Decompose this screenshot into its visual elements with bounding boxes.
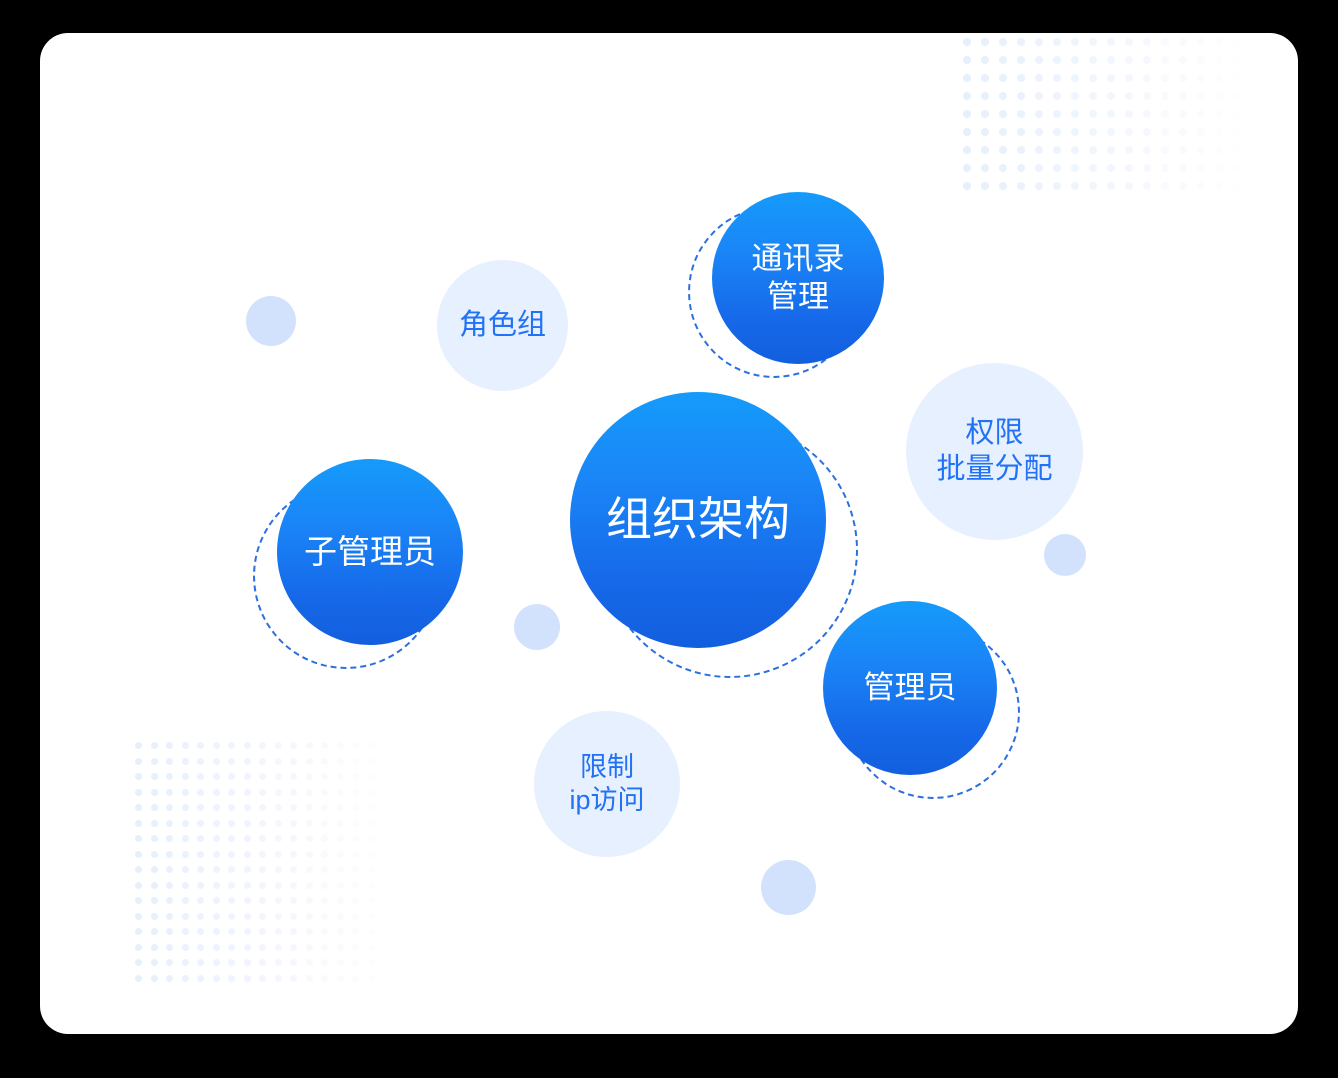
grid-dot bbox=[213, 804, 220, 811]
grid-dot bbox=[1071, 56, 1079, 64]
grid-dot bbox=[383, 835, 390, 842]
grid-dot bbox=[1179, 164, 1187, 172]
grid-dot bbox=[182, 742, 189, 749]
grid-dot bbox=[352, 804, 359, 811]
grid-dot bbox=[213, 882, 220, 889]
grid-dot bbox=[259, 897, 266, 904]
grid-dot bbox=[135, 913, 142, 920]
grid-dot bbox=[1161, 128, 1169, 136]
diagram-card: 组织架构通讯录 管理子管理员管理员角色组权限 批量分配限制 ip访问 bbox=[40, 33, 1298, 1034]
grid-dot bbox=[182, 913, 189, 920]
grid-dot bbox=[1053, 38, 1061, 46]
grid-dot bbox=[1089, 74, 1097, 82]
grid-dot bbox=[182, 851, 189, 858]
grid-dot bbox=[321, 975, 328, 982]
grid-dot bbox=[337, 928, 344, 935]
grid-dot bbox=[213, 835, 220, 842]
grid-dot bbox=[321, 882, 328, 889]
grid-dot bbox=[151, 897, 158, 904]
grid-dot bbox=[1143, 56, 1151, 64]
grid-dot bbox=[259, 928, 266, 935]
grid-dot bbox=[228, 758, 235, 765]
grid-dot bbox=[135, 975, 142, 982]
grid-dot bbox=[352, 773, 359, 780]
grid-dot bbox=[135, 820, 142, 827]
grid-dot bbox=[321, 913, 328, 920]
grid-dot bbox=[1179, 146, 1187, 154]
grid-dot bbox=[166, 913, 173, 920]
grid-dot bbox=[1053, 146, 1061, 154]
grid-dot bbox=[306, 913, 313, 920]
grid-dot bbox=[1161, 110, 1169, 118]
grid-dot bbox=[259, 742, 266, 749]
grid-dot bbox=[352, 866, 359, 873]
grid-dot bbox=[1197, 182, 1205, 190]
grid-dot bbox=[337, 959, 344, 966]
grid-dot bbox=[275, 866, 282, 873]
grid-dot bbox=[244, 773, 251, 780]
grid-dot bbox=[135, 851, 142, 858]
grid-dot bbox=[1071, 74, 1079, 82]
grid-dot bbox=[290, 913, 297, 920]
grid-dot bbox=[1107, 164, 1115, 172]
bubble-restrict-ip-access[interactable]: 限制 ip访问 bbox=[534, 711, 680, 857]
bubble-sub-administrator[interactable]: 子管理员 bbox=[277, 459, 463, 645]
grid-dot bbox=[213, 851, 220, 858]
grid-dot bbox=[352, 897, 359, 904]
grid-dot bbox=[1197, 56, 1205, 64]
grid-dot bbox=[963, 164, 971, 172]
grid-dot bbox=[244, 835, 251, 842]
grid-dot bbox=[259, 758, 266, 765]
grid-dot bbox=[337, 804, 344, 811]
grid-dot bbox=[1179, 92, 1187, 100]
grid-dot bbox=[352, 820, 359, 827]
grid-dot bbox=[213, 944, 220, 951]
grid-dot bbox=[290, 851, 297, 858]
grid-dot bbox=[321, 742, 328, 749]
grid-dot bbox=[1215, 182, 1223, 190]
grid-dot bbox=[1143, 128, 1151, 136]
grid-dot bbox=[135, 928, 142, 935]
grid-dot bbox=[151, 975, 158, 982]
grid-dot bbox=[213, 975, 220, 982]
grid-dot bbox=[1107, 74, 1115, 82]
grid-dot bbox=[1125, 38, 1133, 46]
grid-dot bbox=[290, 804, 297, 811]
grid-dot bbox=[166, 882, 173, 889]
grid-dot bbox=[1125, 74, 1133, 82]
grid-dot bbox=[1143, 74, 1151, 82]
grid-dot bbox=[1179, 110, 1187, 118]
grid-dot bbox=[352, 913, 359, 920]
grid-dot bbox=[981, 74, 989, 82]
grid-dot bbox=[244, 882, 251, 889]
grid-dot bbox=[228, 789, 235, 796]
grid-dot bbox=[1161, 38, 1169, 46]
grid-dot bbox=[1089, 164, 1097, 172]
grid-dot bbox=[151, 773, 158, 780]
grid-dot bbox=[151, 959, 158, 966]
bubble-label-restrict-ip-access: 限制 ip访问 bbox=[569, 751, 644, 818]
grid-dot bbox=[963, 182, 971, 190]
grid-dot bbox=[368, 928, 375, 935]
grid-dot bbox=[275, 913, 282, 920]
grid-dot bbox=[1035, 56, 1043, 64]
grid-dot bbox=[368, 913, 375, 920]
grid-dot bbox=[1143, 146, 1151, 154]
grid-dot bbox=[290, 866, 297, 873]
grid-dot bbox=[244, 959, 251, 966]
grid-dot bbox=[182, 804, 189, 811]
grid-dot bbox=[352, 742, 359, 749]
bubble-batch-permission-assignment[interactable]: 权限 批量分配 bbox=[906, 363, 1083, 540]
deco-center bbox=[514, 604, 560, 650]
grid-dot bbox=[306, 742, 313, 749]
grid-dot bbox=[290, 975, 297, 982]
grid-dot bbox=[166, 804, 173, 811]
grid-dot bbox=[368, 835, 375, 842]
bubble-label-administrator: 管理员 bbox=[864, 669, 957, 707]
grid-dot bbox=[290, 959, 297, 966]
grid-dot bbox=[306, 758, 313, 765]
grid-dot bbox=[135, 835, 142, 842]
grid-dot bbox=[999, 182, 1007, 190]
grid-dot bbox=[1125, 56, 1133, 64]
grid-dot bbox=[135, 742, 142, 749]
grid-dot bbox=[228, 882, 235, 889]
grid-dot bbox=[1197, 38, 1205, 46]
bubble-org-structure[interactable]: 组织架构 bbox=[570, 392, 826, 648]
grid-dot bbox=[151, 851, 158, 858]
grid-dot bbox=[321, 789, 328, 796]
grid-dot bbox=[135, 866, 142, 873]
grid-dot bbox=[1179, 74, 1187, 82]
grid-dot bbox=[228, 897, 235, 904]
grid-dot bbox=[290, 928, 297, 935]
bubble-label-batch-permission-assignment: 权限 批量分配 bbox=[936, 416, 1052, 488]
grid-dot bbox=[963, 110, 971, 118]
grid-dot bbox=[1053, 92, 1061, 100]
grid-dot bbox=[151, 944, 158, 951]
grid-dot bbox=[306, 897, 313, 904]
grid-dot bbox=[337, 913, 344, 920]
grid-dot bbox=[228, 959, 235, 966]
grid-dot bbox=[1233, 38, 1241, 46]
grid-dot bbox=[981, 128, 989, 136]
grid-dot bbox=[290, 835, 297, 842]
grid-dot bbox=[1143, 38, 1151, 46]
grid-dot bbox=[1233, 56, 1241, 64]
grid-dot bbox=[1197, 146, 1205, 154]
grid-dot bbox=[321, 758, 328, 765]
grid-dot bbox=[213, 928, 220, 935]
grid-dot bbox=[1071, 164, 1079, 172]
grid-dot bbox=[197, 851, 204, 858]
grid-dot bbox=[383, 758, 390, 765]
grid-dot bbox=[290, 742, 297, 749]
grid-dot bbox=[135, 789, 142, 796]
grid-dot bbox=[197, 866, 204, 873]
grid-dot bbox=[999, 164, 1007, 172]
grid-dot bbox=[306, 944, 313, 951]
grid-dot bbox=[1053, 164, 1061, 172]
grid-dot bbox=[963, 128, 971, 136]
grid-dot bbox=[1071, 182, 1079, 190]
grid-dot bbox=[151, 789, 158, 796]
grid-dot bbox=[1233, 128, 1241, 136]
grid-dot bbox=[963, 146, 971, 154]
grid-dot bbox=[275, 928, 282, 935]
grid-dot bbox=[275, 742, 282, 749]
grid-dot bbox=[1125, 128, 1133, 136]
grid-dot bbox=[244, 944, 251, 951]
grid-dot bbox=[963, 74, 971, 82]
grid-dot bbox=[259, 804, 266, 811]
grid-dot bbox=[213, 758, 220, 765]
grid-dot bbox=[368, 897, 375, 904]
grid-dot bbox=[244, 913, 251, 920]
grid-dot bbox=[259, 820, 266, 827]
dot-grid-bottom-left bbox=[135, 742, 399, 990]
bubble-role-group[interactable]: 角色组 bbox=[437, 260, 568, 391]
grid-dot bbox=[182, 773, 189, 780]
grid-dot bbox=[1143, 92, 1151, 100]
grid-dot bbox=[244, 851, 251, 858]
grid-dot bbox=[321, 820, 328, 827]
grid-dot bbox=[352, 944, 359, 951]
grid-dot bbox=[383, 928, 390, 935]
grid-dot bbox=[368, 944, 375, 951]
grid-dot bbox=[166, 975, 173, 982]
grid-dot bbox=[352, 928, 359, 935]
grid-dot bbox=[337, 742, 344, 749]
grid-dot bbox=[1107, 38, 1115, 46]
grid-dot bbox=[368, 742, 375, 749]
grid-dot bbox=[1125, 182, 1133, 190]
grid-dot bbox=[1143, 182, 1151, 190]
grid-dot bbox=[352, 975, 359, 982]
grid-dot bbox=[228, 866, 235, 873]
grid-dot bbox=[182, 835, 189, 842]
grid-dot bbox=[1035, 38, 1043, 46]
grid-dot bbox=[368, 975, 375, 982]
grid-dot bbox=[259, 851, 266, 858]
grid-dot bbox=[259, 944, 266, 951]
grid-dot bbox=[1107, 110, 1115, 118]
grid-dot bbox=[368, 882, 375, 889]
grid-dot bbox=[1035, 74, 1043, 82]
grid-dot bbox=[213, 773, 220, 780]
grid-dot bbox=[244, 742, 251, 749]
grid-dot bbox=[1107, 56, 1115, 64]
grid-dot bbox=[1053, 182, 1061, 190]
grid-dot bbox=[1179, 128, 1187, 136]
grid-dot bbox=[259, 882, 266, 889]
grid-dot bbox=[337, 866, 344, 873]
grid-dot bbox=[1125, 92, 1133, 100]
grid-dot bbox=[1125, 146, 1133, 154]
grid-dot bbox=[259, 789, 266, 796]
grid-dot bbox=[981, 146, 989, 154]
deco-top-left bbox=[246, 296, 296, 346]
grid-dot bbox=[135, 944, 142, 951]
grid-dot bbox=[259, 835, 266, 842]
grid-dot bbox=[999, 92, 1007, 100]
grid-dot bbox=[1233, 164, 1241, 172]
grid-dot bbox=[1197, 110, 1205, 118]
deco-right bbox=[1044, 534, 1086, 576]
grid-dot bbox=[1017, 38, 1025, 46]
grid-dot bbox=[1089, 56, 1097, 64]
grid-dot bbox=[197, 959, 204, 966]
grid-dot bbox=[197, 975, 204, 982]
deco-bottom bbox=[761, 860, 816, 915]
grid-dot bbox=[1089, 146, 1097, 154]
grid-dot bbox=[182, 944, 189, 951]
grid-dot bbox=[1035, 182, 1043, 190]
grid-dot bbox=[1143, 110, 1151, 118]
grid-dot bbox=[197, 820, 204, 827]
grid-dot bbox=[1053, 56, 1061, 64]
grid-dot bbox=[166, 944, 173, 951]
grid-dot bbox=[275, 959, 282, 966]
grid-dot bbox=[337, 758, 344, 765]
grid-dot bbox=[352, 851, 359, 858]
grid-dot bbox=[135, 804, 142, 811]
grid-dot bbox=[166, 820, 173, 827]
grid-dot bbox=[321, 959, 328, 966]
bubble-contact-management[interactable]: 通讯录 管理 bbox=[712, 192, 884, 364]
grid-dot bbox=[306, 804, 313, 811]
grid-dot bbox=[999, 56, 1007, 64]
grid-dot bbox=[197, 882, 204, 889]
grid-dot bbox=[1143, 164, 1151, 172]
grid-dot bbox=[228, 835, 235, 842]
grid-dot bbox=[182, 758, 189, 765]
grid-dot bbox=[1233, 92, 1241, 100]
grid-dot bbox=[368, 851, 375, 858]
grid-dot bbox=[337, 835, 344, 842]
grid-dot bbox=[321, 804, 328, 811]
grid-dot bbox=[321, 897, 328, 904]
grid-dot bbox=[197, 758, 204, 765]
grid-dot bbox=[197, 773, 204, 780]
grid-dot bbox=[1053, 110, 1061, 118]
grid-dot bbox=[981, 92, 989, 100]
bubble-label-role-group: 角色组 bbox=[459, 308, 546, 344]
grid-dot bbox=[244, 897, 251, 904]
grid-dot bbox=[213, 789, 220, 796]
grid-dot bbox=[197, 944, 204, 951]
grid-dot bbox=[290, 897, 297, 904]
grid-dot bbox=[306, 835, 313, 842]
grid-dot bbox=[1179, 182, 1187, 190]
grid-dot bbox=[290, 820, 297, 827]
grid-dot bbox=[259, 975, 266, 982]
grid-dot bbox=[383, 773, 390, 780]
grid-dot bbox=[1071, 110, 1079, 118]
grid-dot bbox=[999, 146, 1007, 154]
grid-dot bbox=[166, 897, 173, 904]
grid-dot bbox=[259, 913, 266, 920]
grid-dot bbox=[352, 835, 359, 842]
grid-dot bbox=[337, 975, 344, 982]
grid-dot bbox=[1107, 92, 1115, 100]
grid-dot bbox=[981, 110, 989, 118]
grid-dot bbox=[1071, 92, 1079, 100]
grid-dot bbox=[1215, 164, 1223, 172]
grid-dot bbox=[337, 789, 344, 796]
grid-dot bbox=[963, 38, 971, 46]
grid-dot bbox=[290, 789, 297, 796]
grid-dot bbox=[244, 804, 251, 811]
grid-dot bbox=[306, 882, 313, 889]
grid-dot bbox=[999, 74, 1007, 82]
grid-dot bbox=[228, 851, 235, 858]
grid-dot bbox=[352, 959, 359, 966]
grid-dot bbox=[197, 804, 204, 811]
grid-dot bbox=[166, 851, 173, 858]
grid-dot bbox=[275, 758, 282, 765]
grid-dot bbox=[197, 897, 204, 904]
grid-dot bbox=[290, 944, 297, 951]
grid-dot bbox=[337, 820, 344, 827]
grid-dot bbox=[151, 928, 158, 935]
grid-dot bbox=[306, 928, 313, 935]
grid-dot bbox=[1035, 164, 1043, 172]
grid-dot bbox=[306, 789, 313, 796]
grid-dot bbox=[1215, 74, 1223, 82]
grid-dot bbox=[259, 866, 266, 873]
grid-dot bbox=[352, 882, 359, 889]
grid-dot bbox=[383, 944, 390, 951]
grid-dot bbox=[135, 882, 142, 889]
grid-dot bbox=[1197, 128, 1205, 136]
grid-dot bbox=[275, 975, 282, 982]
grid-dot bbox=[213, 959, 220, 966]
grid-dot bbox=[228, 804, 235, 811]
grid-dot bbox=[1017, 74, 1025, 82]
grid-dot bbox=[275, 820, 282, 827]
grid-dot bbox=[321, 835, 328, 842]
grid-dot bbox=[383, 789, 390, 796]
grid-dot bbox=[1089, 128, 1097, 136]
grid-dot bbox=[244, 928, 251, 935]
grid-dot bbox=[197, 913, 204, 920]
grid-dot bbox=[228, 928, 235, 935]
grid-dot bbox=[135, 897, 142, 904]
bubble-label-org-structure: 组织架构 bbox=[606, 491, 790, 548]
grid-dot bbox=[1089, 92, 1097, 100]
grid-dot bbox=[1071, 128, 1079, 136]
grid-dot bbox=[244, 820, 251, 827]
grid-dot bbox=[383, 975, 390, 982]
grid-dot bbox=[1215, 128, 1223, 136]
grid-dot bbox=[228, 944, 235, 951]
grid-dot bbox=[213, 820, 220, 827]
grid-dot bbox=[1017, 56, 1025, 64]
grid-dot bbox=[1053, 128, 1061, 136]
bubble-administrator[interactable]: 管理员 bbox=[823, 601, 997, 775]
grid-dot bbox=[999, 110, 1007, 118]
grid-dot bbox=[1233, 182, 1241, 190]
grid-dot bbox=[1179, 38, 1187, 46]
grid-dot bbox=[228, 913, 235, 920]
grid-dot bbox=[383, 804, 390, 811]
grid-dot bbox=[1017, 146, 1025, 154]
grid-dot bbox=[197, 928, 204, 935]
